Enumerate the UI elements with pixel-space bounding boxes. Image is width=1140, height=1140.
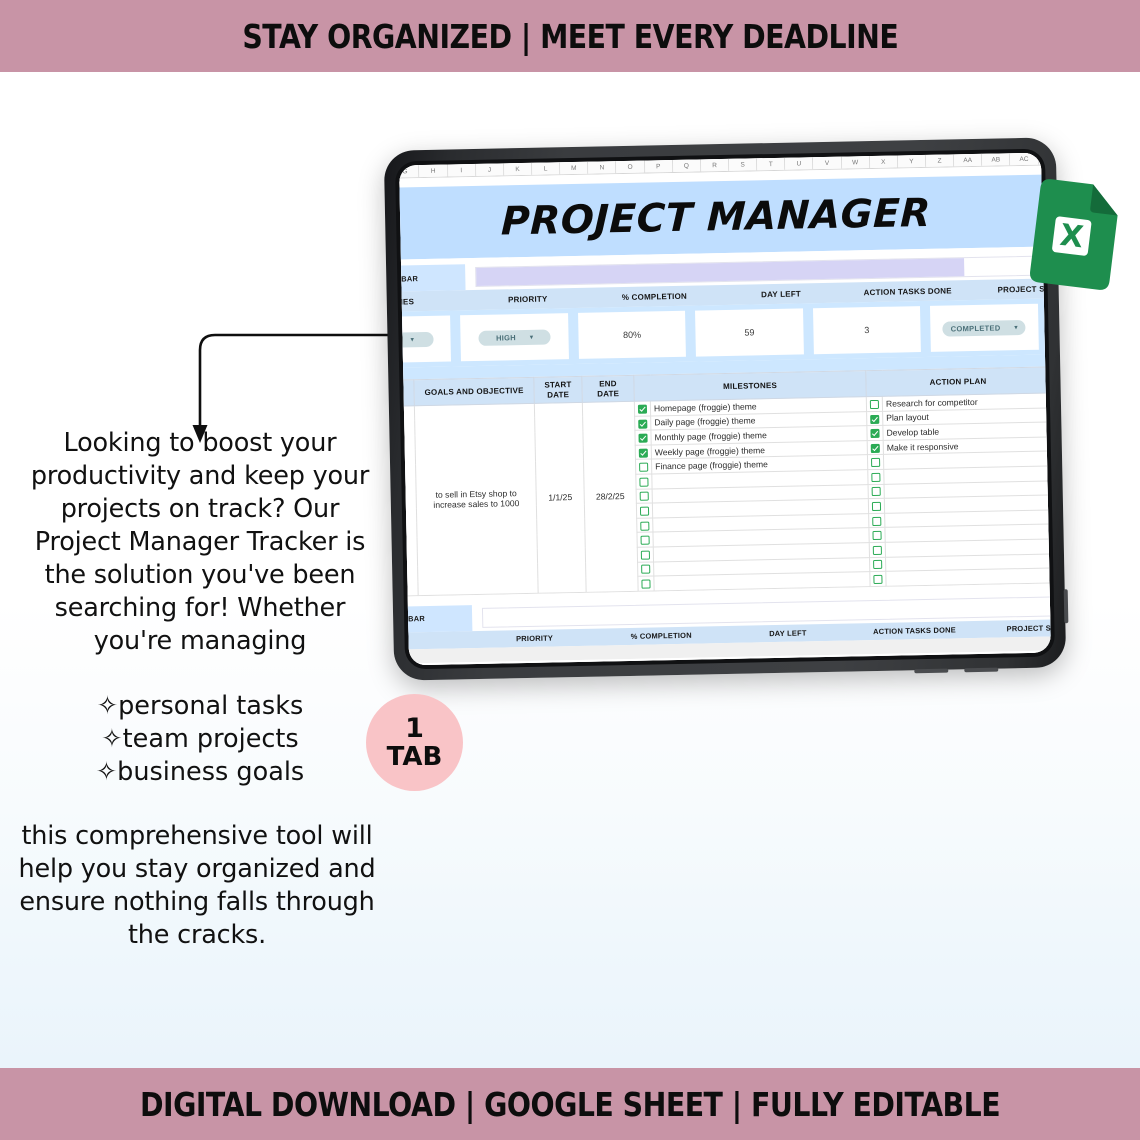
bottom-header-action-tasks-done: ACTION TASKS DONE	[851, 621, 978, 641]
milestone-checkbox-cell[interactable]	[635, 445, 651, 460]
action-checkbox-cell[interactable]	[870, 557, 886, 572]
action-checkbox-cell[interactable]	[867, 440, 883, 455]
column-header-j[interactable]: J	[476, 163, 504, 176]
milestone-checkbox-cell[interactable]	[635, 430, 651, 445]
checkbox-checked-icon[interactable]	[639, 448, 648, 457]
checkbox-unchecked-icon[interactable]	[871, 473, 880, 482]
summary-value-cell[interactable]: 59	[695, 308, 803, 356]
checkbox-unchecked-icon[interactable]	[873, 560, 882, 569]
action-checkbox-cell[interactable]	[869, 513, 885, 528]
col-header-action-plan: ACTION PLAN	[866, 367, 1050, 397]
checkbox-checked-icon[interactable]	[870, 414, 879, 423]
checkbox-checked-icon[interactable]	[638, 404, 647, 413]
dropdown-value: HIGH	[496, 333, 516, 342]
bottom-header-project-status: PROJECT STATUS	[978, 618, 1051, 638]
checkbox-unchecked-icon[interactable]	[873, 531, 882, 540]
project-task-table: TITLE GOALS AND OBJECTIVE START DATE END…	[399, 365, 1051, 597]
column-header-n[interactable]: N	[588, 161, 616, 174]
dropdown-value: COMPLETED	[951, 323, 1001, 333]
milestone-checkbox-cell[interactable]	[636, 489, 652, 504]
top-banner-text: STAY ORGANIZED | MEET EVERY DEADLINE	[242, 17, 898, 56]
column-header-k[interactable]: K	[504, 163, 532, 176]
intro-paragraph: Looking to boost your productivity and k…	[20, 427, 380, 658]
action-checkbox-cell[interactable]	[868, 469, 884, 484]
progress-bar-label: ESS BAR	[399, 264, 466, 293]
column-header-u[interactable]: U	[785, 157, 813, 170]
checkbox-unchecked-icon[interactable]	[641, 565, 650, 574]
summary-header-ories: ORIES	[399, 290, 465, 313]
col-header-goals: GOALS AND OBJECTIVE	[414, 377, 534, 405]
tab-count-badge: 1 TAB	[366, 694, 463, 791]
cell-start-date[interactable]: 1/1/25	[534, 402, 586, 593]
column-header-s[interactable]: S	[729, 158, 757, 171]
tablet-volume-button-down	[964, 668, 998, 673]
bottom-banner: DIGITAL DOWNLOAD | GOOGLE SHEET | FULLY …	[0, 1068, 1140, 1140]
column-header-h[interactable]: H	[419, 165, 447, 178]
cell-goals-objective[interactable]: to sell in Etsy shop toincrease sales to…	[414, 403, 538, 595]
action-checkbox-cell[interactable]	[868, 484, 884, 499]
checkbox-unchecked-icon[interactable]	[640, 492, 649, 501]
action-checkbox-cell[interactable]	[866, 396, 882, 411]
bullet-item-personal-tasks: ✧personal tasks	[20, 690, 380, 723]
tab-count-number: 1	[405, 715, 424, 742]
column-header-aa[interactable]: AA	[954, 154, 982, 167]
summary-header-completion: % COMPLETION	[591, 285, 718, 308]
col-header-start-date: START DATE	[534, 376, 583, 403]
sheet-title: PROJECT MANAGER	[501, 190, 932, 244]
main-canvas: Looking to boost your productivity and k…	[0, 72, 1140, 1068]
summary-header-day-left: DAY LEFT	[718, 283, 845, 306]
checkbox-unchecked-icon[interactable]	[873, 575, 882, 584]
tablet-volume-button-up	[914, 669, 948, 674]
bottom-banner-text: DIGITAL DOWNLOAD | GOOGLE SHEET | FULLY …	[140, 1085, 1000, 1124]
milestone-checkbox-cell[interactable]	[637, 547, 653, 562]
action-checkbox-cell[interactable]	[867, 426, 883, 441]
excel-icon-glyph: X	[1058, 218, 1085, 256]
checkbox-unchecked-icon[interactable]	[871, 458, 880, 467]
milestone-checkbox-cell[interactable]	[636, 474, 652, 489]
checkbox-checked-icon[interactable]	[638, 434, 647, 443]
dropdown-pill[interactable]: HIGH▾	[478, 329, 550, 345]
summary-value-cell[interactable]: 80%	[578, 311, 686, 359]
end-date-line2: DATE	[597, 389, 619, 398]
milestone-checkbox-cell[interactable]	[635, 459, 651, 474]
table-body: t Planner1to sell in Etsy shop toincreas…	[399, 392, 1051, 597]
bullet-item-team-projects: ✧team projects	[20, 723, 380, 756]
feature-bullet-list: ✧personal tasks ✧team projects ✧business…	[20, 690, 380, 789]
excel-sheet-icon: X	[1019, 175, 1123, 293]
milestone-checkbox-cell[interactable]	[636, 503, 652, 518]
column-header-w[interactable]: W	[841, 156, 869, 169]
bottom-header-blank	[399, 631, 471, 651]
action-checkbox-cell[interactable]	[870, 571, 886, 586]
column-header-m[interactable]: M	[560, 162, 588, 175]
column-header-z[interactable]: Z	[926, 154, 954, 167]
column-header-ab[interactable]: AB	[982, 153, 1010, 166]
column-header-q[interactable]: Q	[673, 159, 701, 172]
checkbox-unchecked-icon[interactable]	[640, 507, 649, 516]
top-banner: STAY ORGANIZED | MEET EVERY DEADLINE	[0, 0, 1140, 72]
bottom-header-day-left: DAY LEFT	[724, 623, 851, 643]
column-header-i[interactable]: I	[448, 164, 476, 177]
chevron-down-icon[interactable]: ▾	[411, 336, 414, 343]
end-date-line1: END	[599, 379, 617, 388]
column-header-ac[interactable]: AC	[1010, 153, 1038, 166]
goal-line2: increase sales to 1000	[433, 499, 519, 511]
checkbox-checked-icon[interactable]	[870, 429, 879, 438]
column-header-v[interactable]: V	[813, 157, 841, 170]
milestone-checkbox-cell[interactable]	[637, 532, 653, 547]
action-checkbox-cell[interactable]	[869, 528, 885, 543]
checkbox-unchecked-icon[interactable]	[872, 502, 881, 511]
checkbox-unchecked-icon[interactable]	[641, 580, 650, 589]
bullet-item-business-goals: ✧business goals	[20, 756, 380, 789]
column-header-o[interactable]: O	[616, 161, 644, 174]
bottom-progress-label: ESS BAR	[399, 605, 472, 634]
milestone-checkbox-cell[interactable]	[637, 518, 653, 533]
column-header-t[interactable]: T	[757, 158, 785, 171]
dropdown-pill[interactable]: COMPLETED▾	[943, 319, 1026, 336]
checkbox-unchecked-icon[interactable]	[870, 400, 879, 409]
col-header-end-date: END DATE	[582, 375, 635, 402]
checkbox-checked-icon[interactable]	[638, 419, 647, 428]
checkbox-unchecked-icon[interactable]	[641, 550, 650, 559]
action-checkbox-cell[interactable]	[867, 455, 883, 470]
column-header-g[interactable]: G	[399, 165, 420, 178]
milestone-checkbox-cell[interactable]	[634, 401, 650, 416]
chevron-down-icon[interactable]: ▾	[530, 333, 533, 340]
checkbox-unchecked-icon[interactable]	[873, 546, 882, 555]
checkbox-unchecked-icon[interactable]	[641, 536, 650, 545]
chevron-down-icon[interactable]: ▾	[1014, 324, 1017, 331]
action-checkbox-cell[interactable]	[867, 411, 883, 426]
tablet-mockup: EFGHIJKLMNOPQRSTUVWXYZAAABACADAE PROJECT…	[384, 137, 1067, 680]
bottom-header-priority: PRIORITY	[471, 628, 598, 648]
checkbox-unchecked-icon[interactable]	[639, 463, 648, 472]
closing-paragraph: this comprehensive tool will help you st…	[12, 820, 382, 952]
dropdown-pill[interactable]: NAL▾	[399, 331, 433, 347]
milestone-checkbox-cell[interactable]	[635, 416, 651, 431]
checkbox-unchecked-icon[interactable]	[872, 487, 881, 496]
checkbox-unchecked-icon[interactable]	[872, 517, 881, 526]
summary-header-priority: PRIORITY	[464, 288, 591, 311]
summary-dropdown-completed[interactable]: COMPLETED▾	[930, 304, 1038, 352]
checkbox-checked-icon[interactable]	[871, 444, 880, 453]
summary-dropdown-nal[interactable]: NAL▾	[399, 315, 451, 363]
action-checkbox-cell[interactable]	[868, 498, 884, 513]
tablet-screen: EFGHIJKLMNOPQRSTUVWXYZAAABACADAE PROJECT…	[399, 153, 1051, 666]
spreadsheet: EFGHIJKLMNOPQRSTUVWXYZAAABACADAE PROJECT…	[399, 153, 1051, 666]
cell-end-date[interactable]: 28/2/25	[582, 401, 638, 592]
column-header-l[interactable]: L	[532, 162, 560, 175]
column-header-r[interactable]: R	[701, 159, 729, 172]
column-header-x[interactable]: X	[870, 155, 898, 168]
action-checkbox-cell[interactable]	[869, 542, 885, 557]
summary-value-cell[interactable]: 3	[813, 306, 921, 354]
milestone-checkbox-cell[interactable]	[638, 576, 654, 591]
tab-count-label: TAB	[387, 744, 443, 770]
start-date-line2: DATE	[547, 390, 569, 399]
column-header-p[interactable]: P	[645, 160, 673, 173]
checkbox-unchecked-icon[interactable]	[639, 477, 648, 486]
milestone-checkbox-cell[interactable]	[638, 561, 654, 576]
summary-dropdown-high[interactable]: HIGH▾	[460, 313, 568, 361]
tablet-power-button	[1064, 589, 1069, 623]
start-date-line1: START	[544, 380, 571, 390]
checkbox-unchecked-icon[interactable]	[640, 521, 649, 530]
bottom-header--completion: % COMPLETION	[598, 626, 725, 646]
summary-header-action-tasks-done: ACTION TASKS DONE	[844, 280, 971, 303]
column-header-y[interactable]: Y	[898, 155, 926, 168]
